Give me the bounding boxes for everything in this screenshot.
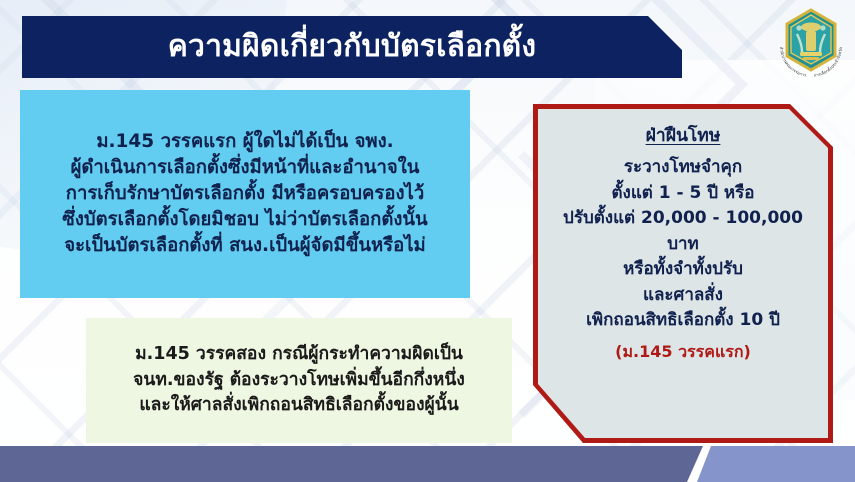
penalty-panel: ฝ่าฝืนโทษ ระวางโทษจำคุก ตั้งแต่ 1 - 5 ปี… bbox=[533, 104, 833, 443]
cyan-line: ผู้ดำเนินการเลือกตั้งซึ่งมีหน้าที่และอำน… bbox=[71, 155, 420, 181]
cyan-line: จะเป็นบัตรเลือกตั้งที่ สนง.เป็นผู้จัดมีข… bbox=[64, 233, 425, 259]
title-banner: ความผิดเกี่ยวกับบัตรเลือกตั้ง bbox=[22, 16, 682, 78]
penalty-line: ระวางโทษจำคุก bbox=[624, 155, 742, 181]
page-title: ความผิดเกี่ยวกับบัตรเลือกตั้ง bbox=[168, 30, 536, 65]
footer-bar-light bbox=[697, 446, 855, 482]
penalty-line: และศาลสั่ง bbox=[643, 283, 723, 309]
section-145-paragraph-two-box: ม.145 วรรคสอง กรณีผู้กระทำความผิดเป็น จน… bbox=[86, 318, 512, 443]
cyan-line: ม.145 วรรคแรก ผู้ใดไม่ได้เป็น จพง. bbox=[96, 129, 393, 155]
cyan-line: ซึ่งบัตรเลือกตั้งโดยมิชอบ ไม่ว่าบัตรเลือ… bbox=[62, 207, 427, 233]
section-145-paragraph-one-box: ม.145 วรรคแรก ผู้ใดไม่ได้เป็น จพง. ผู้ดำ… bbox=[20, 90, 470, 298]
penalty-law-reference: (ม.145 วรรคแรก) bbox=[615, 340, 751, 364]
footer-bar-dark bbox=[0, 446, 703, 482]
green-line: ม.145 วรรคสอง กรณีผู้กระทำความผิดเป็น bbox=[135, 342, 463, 368]
penalty-line: เพิกถอนสิทธิเลือกตั้ง 10 ปี bbox=[586, 308, 780, 334]
penalty-panel-inner: ฝ่าฝืนโทษ ระวางโทษจำคุก ตั้งแต่ 1 - 5 ปี… bbox=[538, 109, 828, 438]
cyan-line: การเก็บรักษาบัตรเลือกตั้ง มีหรือครอบครอง… bbox=[66, 181, 424, 207]
penalty-line: ปรับตั้งแต่ 20,000 - 100,000 bbox=[563, 206, 803, 232]
green-line: จนท.ของรัฐ ต้องระวางโทษเพิ่มขึ้นอีกกึ่งห… bbox=[133, 368, 465, 394]
penalty-line: บาท bbox=[667, 232, 699, 258]
penalty-line: ตั้งแต่ 1 - 5 ปี หรือ bbox=[612, 181, 755, 207]
green-line: และให้ศาลสั่งเพิกถอนสิทธิเลือกตั้งของผู้… bbox=[139, 393, 458, 419]
penalty-panel-heading: ฝ่าฝืนโทษ bbox=[646, 121, 721, 149]
thai-government-emblem-icon: สำนักงานคณะกรรมการ การเลือกตั้งประจำจังห… bbox=[772, 4, 850, 90]
slide-canvas: ความผิดเกี่ยวกับบัตรเลือกตั้ง สำนักงานคณ… bbox=[0, 0, 855, 482]
penalty-line: หรือทั้งจำทั้งปรับ bbox=[623, 257, 743, 283]
